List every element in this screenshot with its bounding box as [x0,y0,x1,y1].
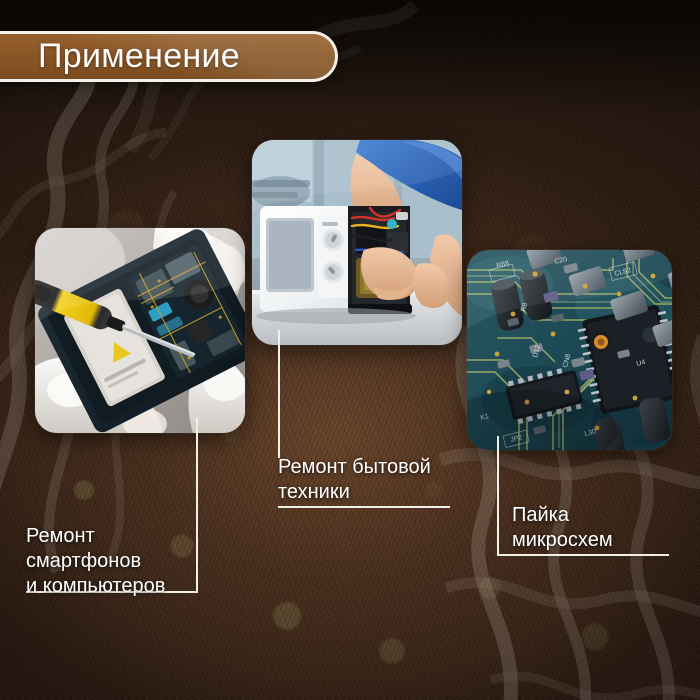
connector-line-soldering-horizontal [497,554,669,556]
connector-line-appliance-vertical [278,330,280,458]
page-title-banner: Применение [0,31,338,82]
caption-appliance-repair: Ремонт бытовой техники [278,455,463,505]
photo-card-appliance-repair[interactable] [252,140,462,345]
caption-smartphone-repair: Ремонт смартфонов и компьютеров [26,524,211,599]
connector-line-soldering-vertical [497,436,499,556]
caption-chip-soldering: Пайка микросхем [512,503,687,553]
photo-card-chip-soldering[interactable]: R88 C20 CL82 R8 D12 CN8 K1 L30 JP2 U4 [467,250,672,450]
photo-card-smartphone-repair[interactable] [35,228,245,433]
connector-line-appliance-horizontal [278,506,450,508]
page-title: Применение [38,37,240,76]
slide-canvas: Применение [0,0,700,700]
